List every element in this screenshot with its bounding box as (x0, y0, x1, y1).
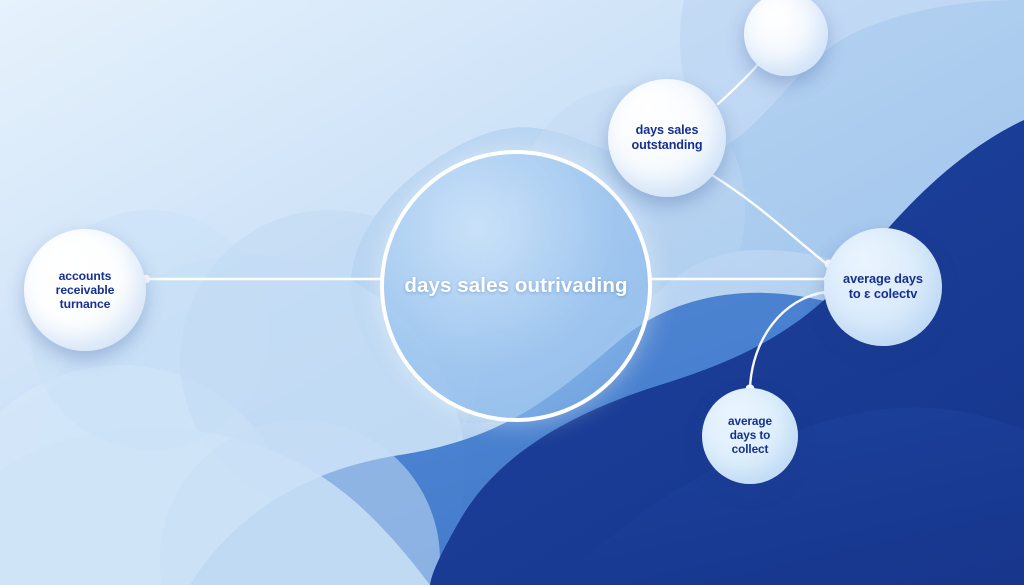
node-accounts-receivable-turnance[interactable]: accounts receivable turnance (24, 229, 146, 351)
node-label-average-days-to-colectv: average days to ɛ colectv (843, 272, 923, 302)
node-label-average-days-to-collect: average days to collect (728, 415, 772, 456)
node-average-days-to-collect[interactable]: average days to collect (702, 388, 798, 484)
connector-bottom-to-right (750, 292, 826, 388)
node-average-days-to-colectv[interactable]: average days to ɛ colectv (824, 228, 942, 346)
node-days-sales-outstanding[interactable]: days sales outstanding (608, 79, 726, 197)
connector-top-to-right (712, 175, 828, 265)
hub-node-days-sales-outrivading[interactable]: days sales outrivading (380, 150, 652, 422)
node-label-accounts-receivable-turnance: accounts receivable turnance (56, 269, 115, 311)
diagram-canvas: days sales outrivading accounts receivab… (0, 0, 1024, 585)
hub-node-label: days sales outrivading (404, 274, 627, 298)
node-label-days-sales-outstanding: days sales outstanding (632, 123, 703, 152)
